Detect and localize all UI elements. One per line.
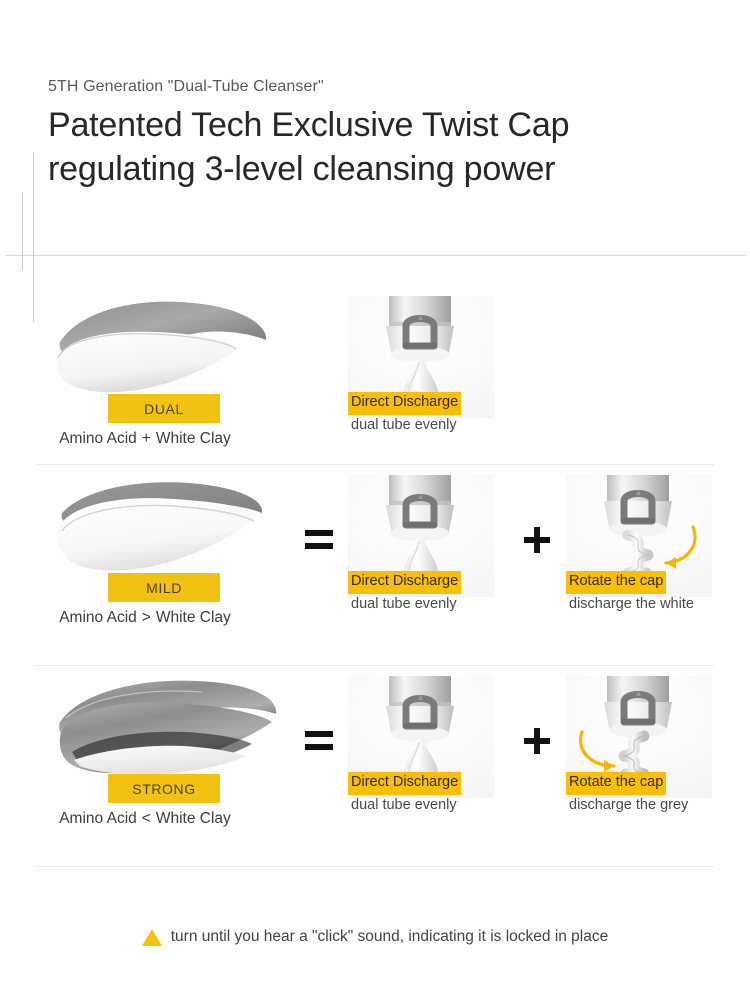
level-row-dual: DUAL Amino Acid+White Clay (0, 286, 750, 464)
step-direct-discharge-mild: Direct Discharge dual tube evenly (348, 465, 508, 597)
level-badge-mild: MILD (108, 573, 220, 602)
step-rotate-grey-strong: Rotate the cap discharge the grey (566, 666, 726, 798)
formula-caption-strong: Amino Acid<White Clay (0, 810, 290, 828)
formula-right: White Clay (156, 810, 231, 827)
highlight-text: Direct Discharge (348, 392, 461, 415)
formula-operator: > (137, 609, 156, 627)
level-badge-dual: DUAL (108, 394, 220, 423)
subtext: dual tube evenly (348, 797, 508, 813)
subtext: discharge the grey (566, 797, 726, 813)
headline-line-2: regulating 3-level cleansing power (48, 148, 708, 192)
footer-note: turn until you hear a "click" sound, ind… (0, 928, 750, 946)
formula-right: White Clay (156, 430, 231, 447)
step-label-rotate-white: Rotate the cap discharge the white (566, 571, 726, 612)
formula-operator: < (137, 810, 156, 828)
formula-operator: + (137, 430, 156, 448)
formula-left: Amino Acid (59, 810, 137, 827)
formula-caption-dual: Amino Acid+White Clay (0, 430, 290, 448)
step-label-direct-discharge: Direct Discharge dual tube evenly (348, 392, 508, 433)
swatch-column: STRONG Amino Acid<White Clay (0, 666, 290, 782)
headline-line-1: Patented Tech Exclusive Twist Cap (48, 106, 569, 144)
step-direct-discharge-dual: Direct Discharge dual tube evenly (348, 286, 508, 418)
step-label-direct-discharge: Direct Discharge dual tube evenly (348, 772, 508, 813)
levels-list: DUAL Amino Acid+White Clay (0, 286, 750, 867)
page-header: 5TH Generation "Dual-Tube Cleanser" Pate… (48, 78, 708, 191)
step-rotate-white-mild: Rotate the cap discharge the white (566, 465, 726, 597)
formula-right: White Clay (156, 609, 231, 626)
subtext: dual tube evenly (348, 596, 508, 612)
level-row-mild: MILD Amino Acid>White Clay (0, 465, 750, 665)
grey-and-white-cream-swirl-swatch-icon (52, 294, 302, 402)
operator-plus-mild (508, 465, 566, 615)
operator-plus-strong (508, 666, 566, 816)
highlight-text: Direct Discharge (348, 571, 461, 594)
plus-icon (524, 728, 550, 754)
step-label-rotate-grey: Rotate the cap discharge the grey (566, 772, 726, 813)
row-separator-3 (36, 866, 714, 867)
plus-icon (524, 527, 550, 553)
step-label-direct-discharge: Direct Discharge dual tube evenly (348, 571, 508, 612)
warning-triangle-icon (142, 929, 162, 946)
subtext: discharge the white (566, 596, 726, 612)
highlight-text: Rotate the cap (566, 772, 666, 795)
highlight-text: Rotate the cap (566, 571, 666, 594)
divider-vertical-line-short (22, 192, 23, 270)
divider-horizontal-line (6, 255, 746, 256)
footer-text: turn until you hear a "click" sound, ind… (171, 928, 609, 946)
subtext: dual tube evenly (348, 417, 508, 433)
formula-caption-mild: Amino Acid>White Clay (0, 609, 290, 627)
formula-left: Amino Acid (59, 609, 137, 626)
equals-icon (305, 530, 333, 550)
product-infographic-page: 5TH Generation "Dual-Tube Cleanser" Pate… (0, 0, 750, 1000)
formula-left: Amino Acid (59, 430, 137, 447)
mostly-grey-cream-swatch-icon (52, 674, 302, 782)
highlight-text: Direct Discharge (348, 772, 461, 795)
step-direct-discharge-strong: Direct Discharge dual tube evenly (348, 666, 508, 798)
equals-icon (305, 731, 333, 751)
eyebrow-text: 5TH Generation "Dual-Tube Cleanser" (48, 78, 708, 96)
swatch-column: DUAL Amino Acid+White Clay (0, 286, 290, 402)
mostly-white-cream-swatch-icon (52, 473, 302, 581)
page-title: Patented Tech Exclusive Twist Cap regula… (48, 104, 708, 191)
level-badge-strong: STRONG (108, 774, 220, 803)
level-row-strong: STRONG Amino Acid<White Clay (0, 666, 750, 866)
swatch-column: MILD Amino Acid>White Clay (0, 465, 290, 581)
